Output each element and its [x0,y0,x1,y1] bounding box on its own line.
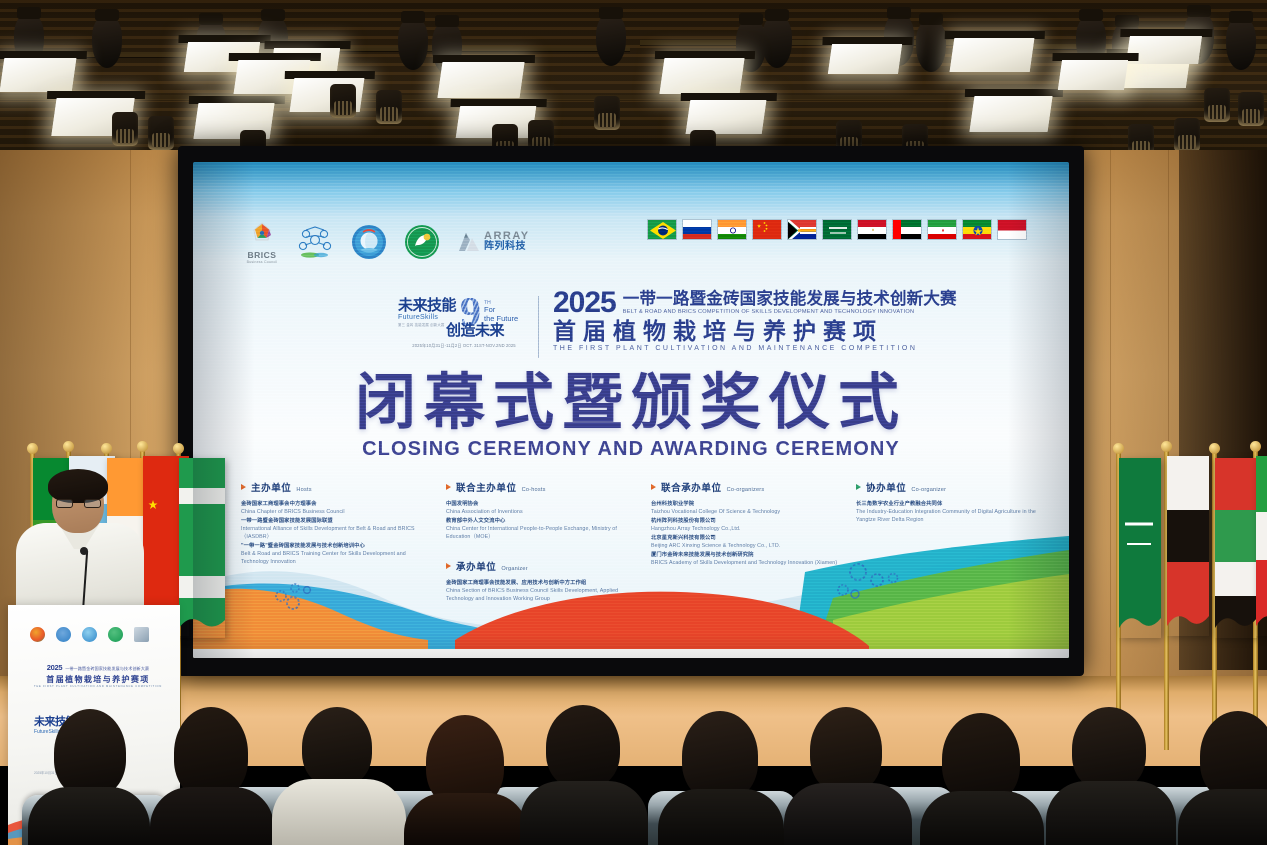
stage-flood-light [969,96,1052,132]
stage-flood-light [686,100,767,134]
bullet-triangle-icon [651,484,656,490]
flag-ethiopia [962,219,992,240]
org-name-en: China Association of Inventions [446,509,637,517]
flag-iran [927,219,957,240]
bullet-triangle-icon [446,484,451,490]
microphone-head [80,547,88,555]
stage-flood-light [828,44,902,74]
org-name-en: China Chapter of BRICS Business Council [241,509,432,517]
flag-indonesia [997,219,1027,240]
podium-logo-row [30,627,149,642]
support-heading-cn: 协办单位 [866,480,906,494]
array-technology-logo: ARRAY 阵列科技 [457,231,530,253]
moving-head-light [1226,18,1256,70]
futureskills-cn: 未来技能 [398,298,456,313]
title-divider [538,296,539,358]
org-name-cn: 金砖国家工商理事会中方理事会 [241,501,432,509]
cohosts-heading-en: Co-hosts [522,487,546,493]
standing-flag-uae [1215,458,1257,638]
flag-china [752,219,782,240]
ceiling-lighting-rig [0,0,1267,160]
hosts-heading-en: Hosts [296,487,311,493]
org-name-cn: 教育部中外人文交流中心 [446,518,637,526]
par-can-light [112,112,138,146]
led-screen-bezel: BRICS Business Council [178,146,1084,676]
stage-flood-light [1058,60,1128,90]
stage-flood-light [659,58,744,94]
flag-russia [682,219,712,240]
org-name-cn: 杭州阵列科技股份有限公司 [651,518,842,526]
par-can-light [330,84,356,118]
par-can-light [1204,88,1230,122]
par-can-light [376,90,402,124]
sponsor-logo-row: BRICS Business Council [245,220,530,264]
podium-brics-logo [30,627,45,642]
standing-flag-iran [1256,456,1267,636]
led-screen-content: BRICS Business Council [193,162,1069,658]
stage-flood-light [0,58,76,92]
brics-logo-label: BRICS [245,251,279,260]
flag-saudi-arabia [822,219,852,240]
org-name-cn: 长三角数字农业行业产教融合共同体 [856,501,1047,509]
bullet-triangle-icon [856,484,861,490]
skills-star-logo [296,225,334,259]
bullet-triangle-icon [241,484,246,490]
podium-globe-logo [82,627,97,642]
standing-flag-saudi-arabia [1119,458,1161,638]
green-circle-logo [404,224,440,260]
globe-emblem-logo [351,224,387,260]
standing-flag-yemen-egypt [1167,456,1209,636]
org-name-en: Taizhou Vocational College Of Science & … [651,509,842,517]
flag-uae [892,219,922,240]
speaker-hair [48,469,108,503]
event-title-cn2: 首届植物栽培与养护赛项 [553,319,957,344]
brics-logo-sublabel: Business Council [245,260,279,264]
coorganizers-heading-cn: 联合承办单位 [661,480,722,494]
par-can-light [148,116,174,150]
futureskills-logo-lockup: 未来技能 FutureSkills 第三 金砖 技能发展 创新大赛 9 TH F… [398,298,530,349]
event-date-line: 2025年10月31日-11月2日 OCT. 31ST-NOV.2ND 2025 [398,343,530,349]
auditorium-scene: BRICS Business Council [0,0,1267,845]
event-title-block: 2025 一带一路暨金砖国家技能发展与技术创新大赛 BELT & ROAD AN… [553,290,957,352]
participating-country-flags [647,219,1027,240]
moving-head-light [916,20,946,72]
coorganizers-heading-en: Co-organizers [727,487,765,493]
hosts-heading-cn: 主办单位 [251,480,291,494]
org-name-cn: 中国发明协会 [446,501,637,509]
decorative-wave-graphics [193,528,1069,658]
support-heading-en: Co-organizer [911,487,946,493]
event-title-en1: BELT & ROAD AND BRICS COMPETITION OF SKI… [623,309,957,315]
podium-star-logo [56,627,71,642]
org-name-cn: 台州科技职业学院 [651,501,842,509]
event-year: 2025 [553,290,616,315]
moving-head-light [596,14,626,66]
event-title-cn1: 一带一路暨金砖国家技能发展与技术创新大赛 [623,291,957,308]
par-can-light [1238,92,1264,126]
flag-egypt [857,219,887,240]
flag-brazil [647,219,677,240]
array-logo-cn: 阵列科技 [484,242,530,253]
speaker-glasses [56,499,101,508]
cohosts-heading-cn: 联合主办单位 [456,480,517,494]
flag-india [717,219,747,240]
moving-head-light [398,18,428,70]
headline-en: CLOSING CEREMONY AND AWARDING CEREMONY [193,438,1069,461]
podium-green-logo [108,627,123,642]
org-name-en: The Industry-Education Integration Commu… [856,509,1047,525]
moving-head-light [92,16,122,68]
ceremony-headline: 闭幕式暨颁奖仪式 CLOSING CEREMONY AND AWARDING C… [193,372,1069,461]
wave-base-strip [193,649,1069,658]
brics-business-council-logo: BRICS Business Council [245,220,279,264]
seated-audience [0,670,1267,845]
par-can-light [594,96,620,130]
headline-cn: 闭幕式暨颁奖仪式 [193,372,1069,433]
podium-array-logo [134,627,149,642]
moving-head-light [762,16,792,68]
stage-flood-light [437,62,524,98]
org-name-cn: 一带一路暨金砖国家技能发展国际联盟 [241,518,432,526]
par-can-light [1174,118,1200,152]
event-title-en2: THE FIRST PLANT CULTIVATION AND MAINTENA… [553,345,957,352]
stage-flood-light [950,38,1035,72]
flag-south-africa [787,219,817,240]
